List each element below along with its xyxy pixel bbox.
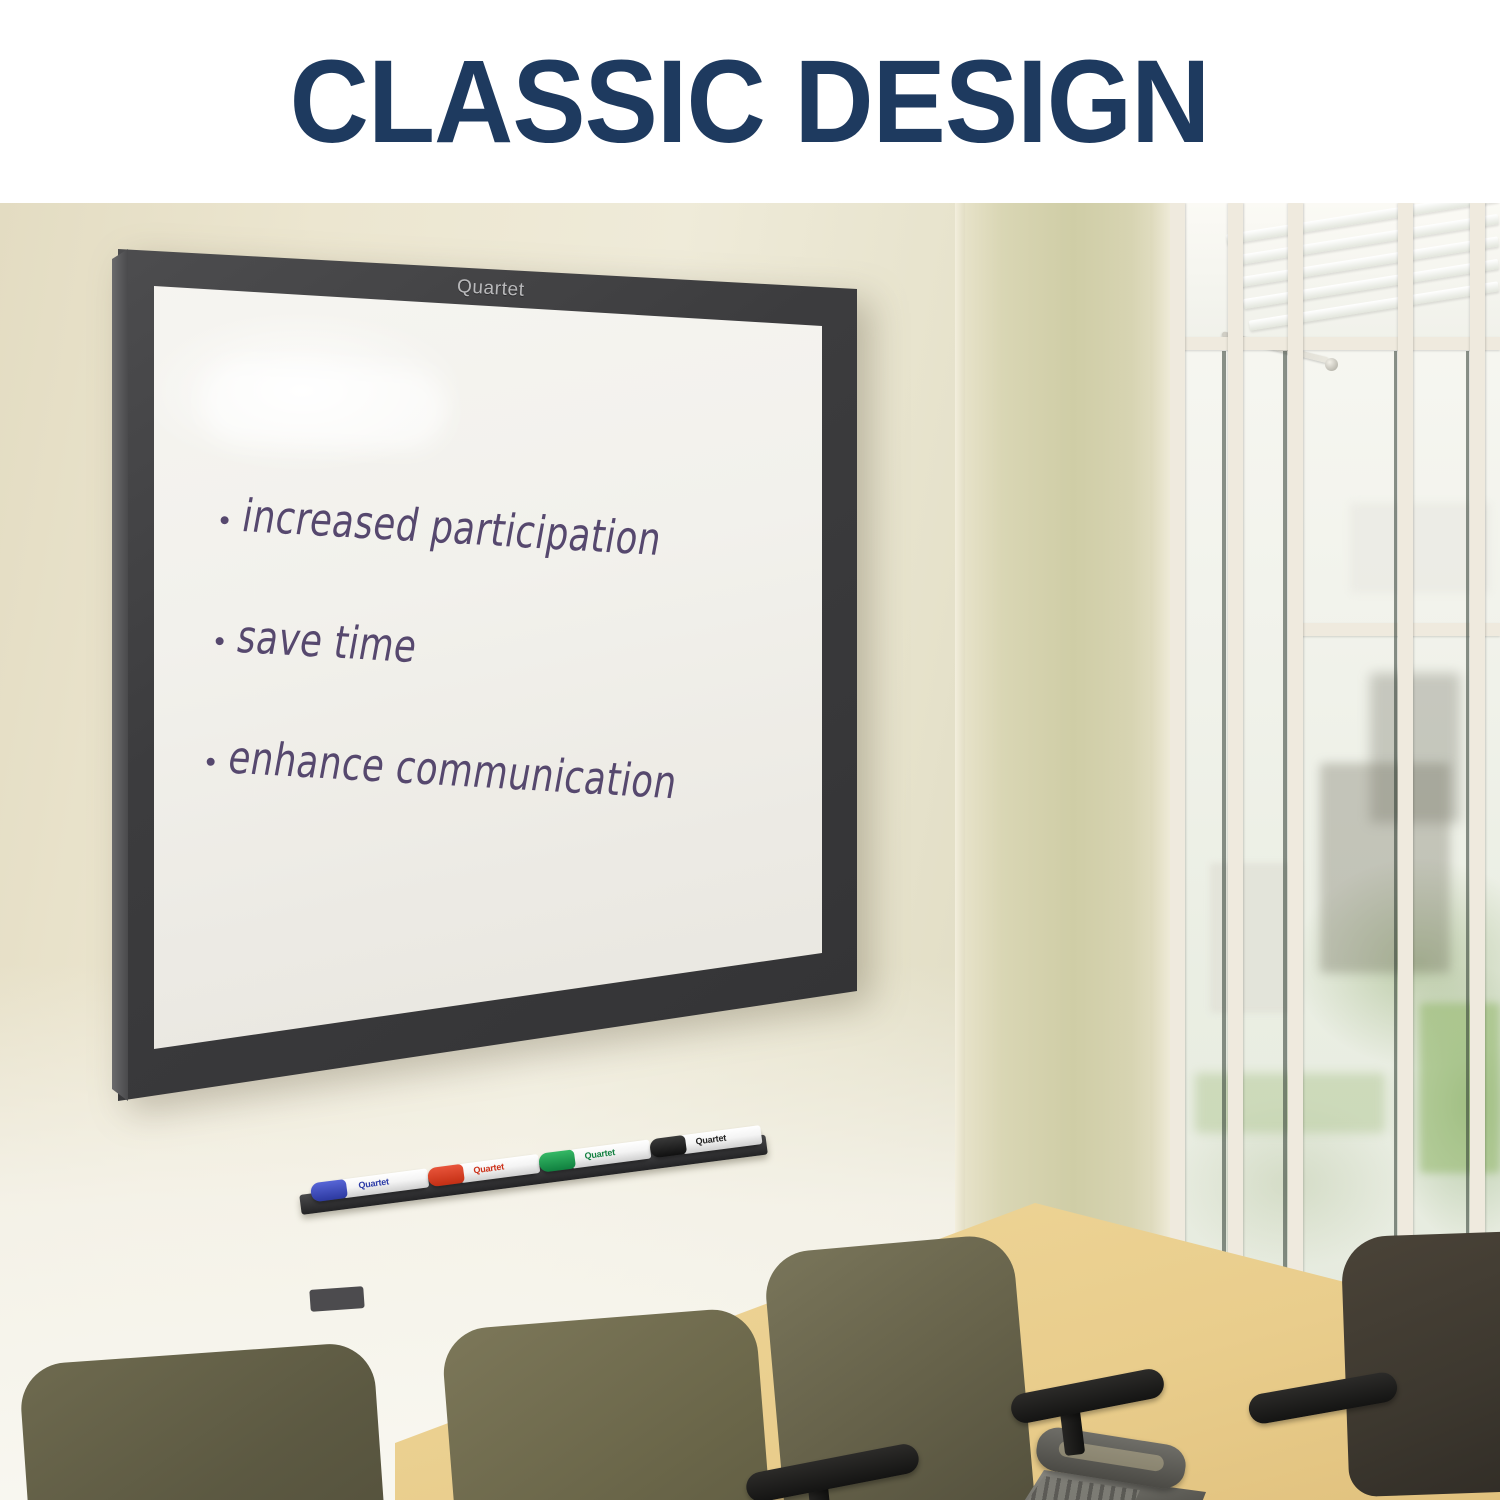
marker-cap xyxy=(310,1179,348,1202)
marker-cap xyxy=(427,1164,465,1187)
bullet-icon xyxy=(206,758,214,766)
louver-slat xyxy=(1249,281,1499,330)
transom-panel xyxy=(1170,203,1500,343)
marker-cap xyxy=(538,1149,576,1172)
marker-cap xyxy=(649,1135,687,1158)
whiteboard-notes: increased participation save time enhanc… xyxy=(206,496,781,807)
chair-backrest xyxy=(440,1306,784,1500)
page-title: CLASSIC DESIGN xyxy=(290,43,1210,161)
whiteboard-frame-edge xyxy=(112,249,128,1101)
outdoor-shape xyxy=(1350,503,1490,593)
chair-backrest xyxy=(1341,1229,1500,1498)
quartet-whiteboard[interactable]: Quartet increased participation save tim… xyxy=(112,241,857,1101)
product-marketing-image: CLASSIC DESIGN xyxy=(0,0,1500,1500)
chair-right xyxy=(1341,1229,1500,1498)
conference-phone xyxy=(1000,1418,1230,1500)
bullet-icon xyxy=(215,637,223,645)
whiteboard-brand-logo: Quartet xyxy=(456,276,525,302)
chair-backrest xyxy=(18,1341,397,1500)
door-stay-pin xyxy=(1325,358,1338,371)
bullet-icon xyxy=(220,516,228,524)
chair-left-1 xyxy=(18,1341,397,1500)
window-mullion-horizontal xyxy=(1170,337,1500,350)
room-photo: Quartet increased participation save tim… xyxy=(0,203,1500,1500)
wall-outlet xyxy=(309,1286,364,1312)
outdoor-plant xyxy=(1420,1003,1500,1173)
list-item: save time xyxy=(215,617,774,686)
headline-banner: CLASSIC DESIGN xyxy=(0,0,1500,203)
chair-left-2 xyxy=(440,1306,784,1500)
surface-glare xyxy=(200,360,449,453)
outdoor-shape xyxy=(1320,763,1450,973)
note-text: save time xyxy=(234,614,421,669)
